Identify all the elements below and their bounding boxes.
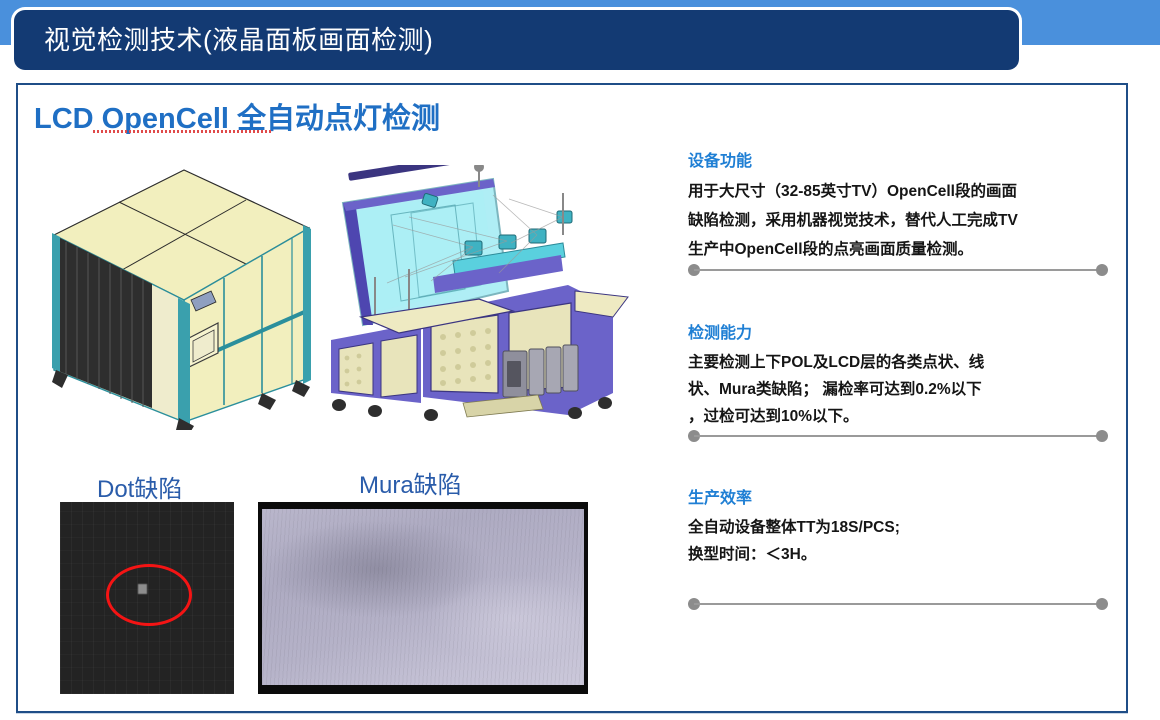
section-heading: 检测能力 bbox=[688, 319, 1118, 343]
divider-line bbox=[694, 269, 1102, 271]
mura-defect-caption: Mura缺陷 bbox=[359, 465, 462, 500]
dot-defect-photo bbox=[60, 502, 234, 694]
section-divider bbox=[688, 598, 1108, 610]
defect-highlight-ellipse bbox=[106, 564, 192, 626]
enclosure-cabinet-render bbox=[34, 160, 324, 430]
slide-title-bar: 视觉检测技术(液晶面板画面检测) bbox=[14, 10, 1019, 70]
section-divider bbox=[688, 430, 1108, 442]
section-production-efficiency: 生产效率 全自动设备整体TT为18S/PCS; 换型时间：＜3H。 bbox=[688, 484, 1118, 568]
section-equipment-function: 设备功能 用于大尺寸（32-85英寸TV）OpenCell段的画面 缺陷检测，采… bbox=[688, 147, 1118, 264]
section-body-line: ，过检可达到10%以下。 bbox=[688, 403, 1118, 430]
spellcheck-underline bbox=[93, 130, 273, 133]
section-body-line: 换型时间：＜3H。 bbox=[688, 541, 1118, 568]
section-heading: 生产效率 bbox=[688, 484, 1118, 508]
mura-panel-surface bbox=[262, 509, 584, 685]
section-divider bbox=[688, 264, 1108, 276]
content-card: LCD OpenCell 全自动点灯检测 bbox=[16, 83, 1128, 713]
section-body-line: 状、Mura类缺陷； 漏检率可达到0.2%以下 bbox=[688, 376, 1118, 403]
section-body-line: 生产中OpenCell段的点亮画面质量检测。 bbox=[688, 235, 1118, 264]
section-body-line: 用于大尺寸（32-85英寸TV）OpenCell段的画面 bbox=[688, 177, 1118, 206]
section-body-line: 全自动设备整体TT为18S/PCS; bbox=[688, 514, 1118, 541]
divider-line bbox=[694, 603, 1102, 605]
inspection-stage-render bbox=[313, 165, 633, 425]
divider-dot-right bbox=[1096, 430, 1108, 442]
section-body-line: 主要检测上下POL及LCD层的各类点状、线 bbox=[688, 349, 1118, 376]
dot-defect-caption: Dot缺陷 bbox=[97, 469, 182, 504]
slide-root: 视觉检测技术(液晶面板画面检测) LCD OpenCell 全自动点灯检测 bbox=[0, 0, 1160, 720]
section-body: 用于大尺寸（32-85英寸TV）OpenCell段的画面 缺陷检测，采用机器视觉… bbox=[688, 177, 1118, 264]
section-heading: 设备功能 bbox=[688, 147, 1118, 171]
page-title: 视觉检测技术(液晶面板画面检测) bbox=[44, 20, 433, 60]
divider-dot-right bbox=[1096, 264, 1108, 276]
section-body: 全自动设备整体TT为18S/PCS; 换型时间：＜3H。 bbox=[688, 514, 1118, 568]
section-body-line: 缺陷检测，采用机器视觉技术，替代人工完成TV bbox=[688, 206, 1118, 235]
divider-dot-right bbox=[1096, 598, 1108, 610]
divider-line bbox=[694, 435, 1102, 437]
section-inspection-capability: 检测能力 主要检测上下POL及LCD层的各类点状、线 状、Mura类缺陷； 漏检… bbox=[688, 319, 1118, 430]
section-body: 主要检测上下POL及LCD层的各类点状、线 状、Mura类缺陷； 漏检率可达到0… bbox=[688, 349, 1118, 430]
mura-defect-photo bbox=[258, 502, 588, 694]
